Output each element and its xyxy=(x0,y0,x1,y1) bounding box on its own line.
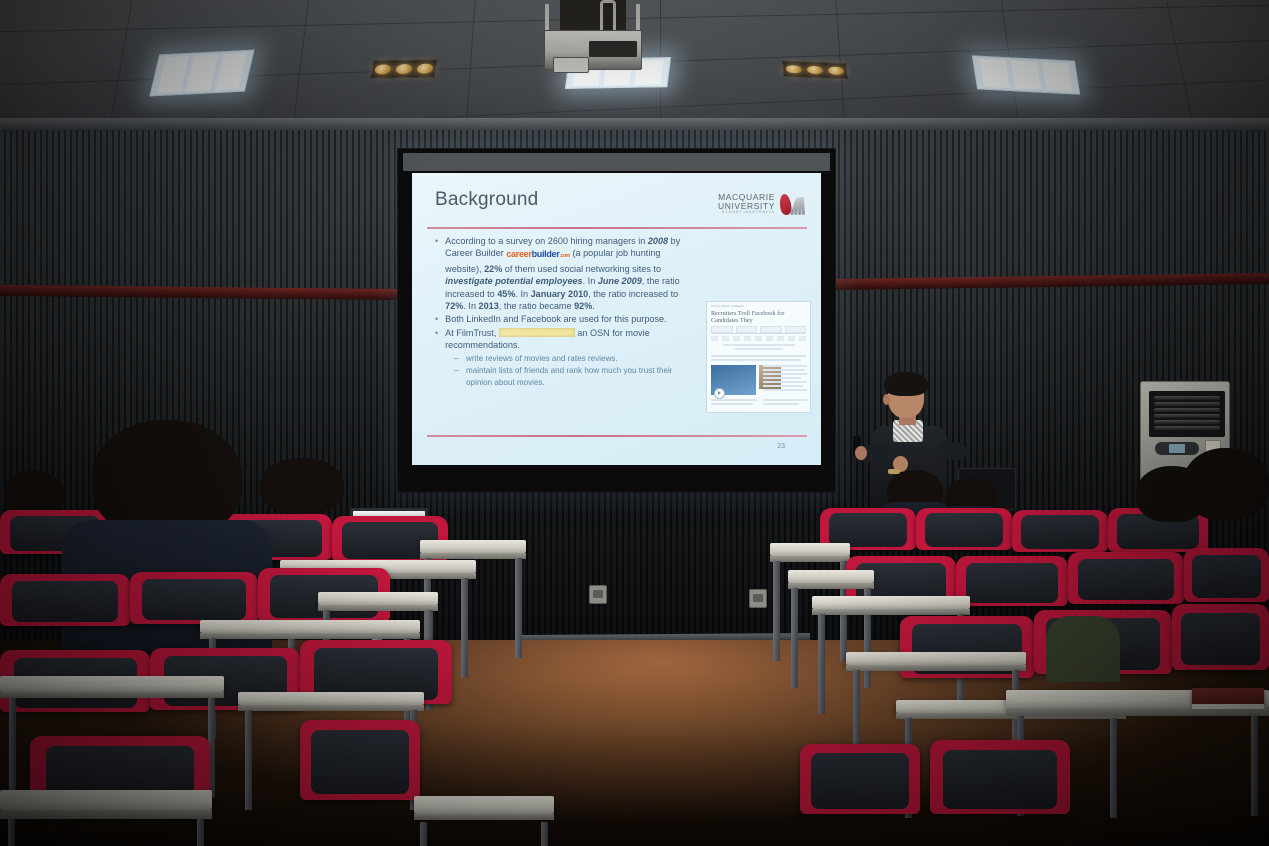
fluorescent-panel-left-light xyxy=(149,50,254,97)
news-tab xyxy=(711,326,733,333)
bullet-dash-icon: – xyxy=(454,365,459,388)
wall-top-trim xyxy=(0,118,1269,130)
news-tabs xyxy=(711,326,806,334)
chair-right-r4-a[interactable] xyxy=(800,744,920,814)
recessed-spotlight-left xyxy=(370,59,437,78)
recessed-spotlight-right xyxy=(782,61,848,79)
ceiling-projector xyxy=(544,30,642,70)
fluorescent-panel-right-light xyxy=(972,55,1080,94)
logo-line-2: UNIVERSITY xyxy=(718,202,775,211)
careerbuilder-logo: careerbuilder.com xyxy=(506,248,570,262)
bullet-dash-icon: – xyxy=(454,353,459,364)
bullet-text: Both LinkedIn and Facebook are used for … xyxy=(445,313,666,326)
bullet-dot-icon: • xyxy=(435,235,438,312)
bullet-dot-icon: • xyxy=(435,313,438,326)
projector-ports xyxy=(589,41,637,57)
news-headline: Recruiters Troll Facebook for Candidates… xyxy=(711,310,807,324)
news-tab xyxy=(760,326,782,333)
presenter-left-hand xyxy=(855,446,867,460)
chair-right-r2-d[interactable] xyxy=(1184,548,1269,602)
bullet-text: According to a survey on 2600 hiring man… xyxy=(445,235,697,312)
projector-lens xyxy=(553,57,589,73)
screen-top-bar xyxy=(403,153,830,171)
slide-title: Background xyxy=(435,189,538,211)
presenter-hair xyxy=(884,372,928,396)
slide-title-rule xyxy=(427,227,807,229)
wall-socket-left xyxy=(589,585,607,604)
chair-left-r2-a[interactable] xyxy=(0,574,130,626)
bullet-text: At FilmTrust, an OSN for movie recommend… xyxy=(445,327,697,352)
chair-right-r2-b[interactable] xyxy=(956,556,1068,606)
bullet-text: maintain lists of friends and rank how m… xyxy=(466,365,697,388)
news-article-screenshot: SOCIAL MEDIA / CAREERS Recruiters Troll … xyxy=(706,301,811,413)
slide-number: 23 xyxy=(777,443,785,450)
logo-line-3: SYDNEY-AUSTRALIA xyxy=(718,211,775,215)
chair-left-r2-b[interactable] xyxy=(130,572,258,624)
slide-bullet: •Both LinkedIn and Facebook are used for… xyxy=(435,313,697,326)
chair-right-r3-c[interactable] xyxy=(1172,604,1269,670)
presentation-slide: Background MACQUARIE UNIVERSITY SYDNEY-A… xyxy=(412,173,821,465)
chair-right-r4-b[interactable] xyxy=(930,740,1070,814)
macquarie-university-logo: MACQUARIE UNIVERSITY SYDNEY-AUSTRALIA xyxy=(709,187,805,221)
ceiling xyxy=(0,0,1269,132)
redacted-highlight xyxy=(499,328,575,337)
student-right-d xyxy=(1182,448,1269,526)
logo-mark-icon xyxy=(779,191,805,217)
slide-bullet: •According to a survey on 2600 hiring ma… xyxy=(435,235,697,312)
slide-footer-rule xyxy=(427,435,807,437)
air-conditioner-grille xyxy=(1149,391,1225,437)
student-front-left xyxy=(62,420,272,680)
news-tab xyxy=(785,326,807,333)
projection-screen: Background MACQUARIE UNIVERSITY SYDNEY-A… xyxy=(397,148,836,493)
chair-right-r1-c[interactable] xyxy=(1012,510,1108,552)
wall-socket-right xyxy=(749,589,767,608)
news-toolbar xyxy=(711,336,806,341)
lecture-hall-photo: Background MACQUARIE UNIVERSITY SYDNEY-A… xyxy=(0,0,1269,846)
presenter-ear xyxy=(883,394,890,405)
red-notebook[interactable] xyxy=(1192,688,1264,705)
student-right-e xyxy=(1046,616,1120,682)
chair-right-r2-c[interactable] xyxy=(1068,552,1184,604)
chair-left-r4-b[interactable] xyxy=(300,720,420,800)
slide-sub-bullet: –maintain lists of friends and rank how … xyxy=(454,365,697,388)
bullet-dot-icon: • xyxy=(435,327,438,352)
slide-sub-bullet: –write reviews of movies and rates revie… xyxy=(454,353,697,364)
slide-bullet-list: •According to a survey on 2600 hiring ma… xyxy=(435,235,697,389)
news-tab xyxy=(736,326,758,333)
slide-bullet: •At FilmTrust, an OSN for movie recommen… xyxy=(435,327,697,352)
chair-right-r1-b[interactable] xyxy=(916,508,1012,550)
play-icon[interactable] xyxy=(714,388,725,399)
bullet-text: write reviews of movies and rates review… xyxy=(466,353,618,364)
news-kicker: SOCIAL MEDIA / CAREERS xyxy=(711,305,744,308)
